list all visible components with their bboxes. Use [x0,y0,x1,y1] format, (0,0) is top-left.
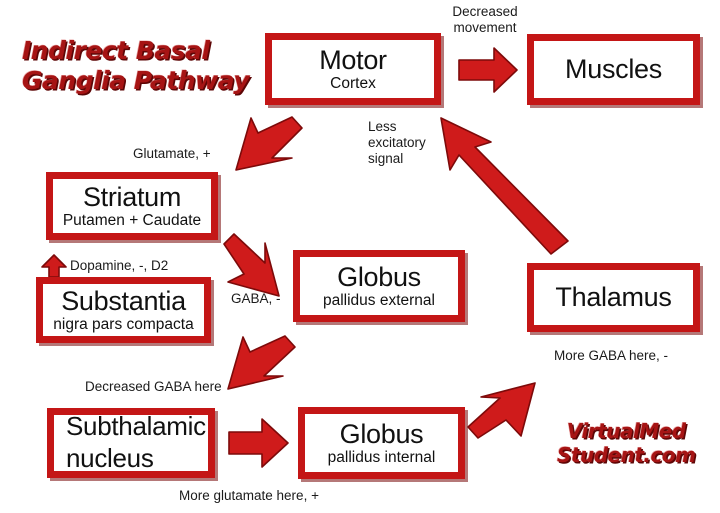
node-substantia-secondary: nigra pars compacta [53,317,193,333]
edge-label-dopamine-minus-d2: Dopamine, -, D2 [70,258,168,274]
edge-label-more-gaba-here-minus: More GABA here, - [554,348,668,364]
arrow-thalamus-to-motor-cortex [441,118,568,254]
node-striatum[interactable]: Striatum Putamen + Caudate [46,172,218,240]
diagram-title: Indirect Basal Ganglia Pathway [22,36,249,95]
arrow-motor-cortex-to-striatum [236,117,302,170]
diagram-title-line-1: Indirect Basal [22,36,249,66]
node-globus-pallidus-external[interactable]: Globus pallidus external [293,250,465,322]
edge-label-gaba-minus: GABA, - [231,291,281,307]
node-muscles-primary: Muscles [565,56,662,83]
watermark-virtualmedstudent: VirtualMed Student.com [557,420,695,467]
node-globus-pallidus-internal[interactable]: Globus pallidus internal [298,407,465,479]
node-substantia-nigra-pars-compacta[interactable]: Substantia nigra pars compacta [36,277,211,343]
arrow-substantia-to-striatum [42,255,66,277]
node-subthalamic-nucleus-primary: Subthalamic nucleus [58,411,204,474]
arrow-striatum-to-globus-external [224,234,279,296]
node-globus-internal-secondary: pallidus internal [328,450,436,466]
diagram-canvas: Indirect Basal Ganglia Pathway VirtualMe… [0,0,720,513]
node-globus-internal-primary: Globus [340,421,424,448]
watermark-line-1: VirtualMed [557,420,695,444]
node-substantia-primary: Substantia [61,288,186,315]
arrow-motor-cortex-to-muscles [459,48,517,92]
watermark-line-2: Student.com [557,444,695,468]
node-muscles[interactable]: Muscles [527,34,700,105]
edge-label-more-glutamate-here-plus: More glutamate here, + [179,488,319,504]
node-globus-external-secondary: pallidus external [323,293,435,309]
edge-label-less-excitatory-signal-text: Less excitatory signal [368,119,418,167]
node-striatum-secondary: Putamen + Caudate [63,213,201,229]
edge-label-decreased-movement: Decreased movement [444,4,526,36]
node-motor-cortex-secondary: Cortex [330,76,376,92]
arrow-globus-external-to-subthalamic [228,336,295,389]
node-globus-external-primary: Globus [337,264,421,291]
edge-label-less-excitatory-signal: Less excitatory signal [368,119,418,167]
node-subthalamic-nucleus[interactable]: Subthalamic nucleus [47,408,215,478]
edge-label-decreased-gaba-here: Decreased GABA here [85,379,222,395]
node-motor-cortex-primary: Motor [319,47,387,74]
node-thalamus[interactable]: Thalamus [527,263,700,332]
node-striatum-primary: Striatum [83,184,181,211]
diagram-title-line-2: Ganglia Pathway [22,66,249,96]
edge-label-glutamate-plus: Glutamate, + [133,146,211,162]
node-thalamus-primary: Thalamus [555,284,671,311]
arrow-subthalamic-to-globus-internal [229,419,288,467]
arrow-globus-internal-to-thalamus [468,383,535,438]
edge-label-decreased-movement-text: Decreased movement [444,4,526,36]
node-motor-cortex[interactable]: Motor Cortex [265,33,441,105]
